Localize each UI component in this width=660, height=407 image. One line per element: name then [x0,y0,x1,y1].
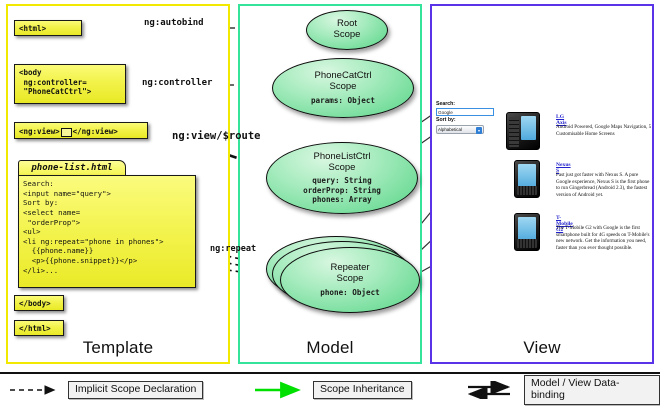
legend-item-databinding: Model / View Data-binding [464,380,660,400]
scope-root-line2: Scope [334,29,361,40]
dashed-arrow-icon [8,381,62,399]
search-label: Search: [436,101,498,108]
legend-item-inheritance: Scope Inheritance [253,380,412,400]
scope-phonelistctrl-title: PhoneListCtrl Scope [313,152,370,173]
scope-phonelistctrl-props: query: String orderProp: String phones: … [303,176,381,204]
green-arrow-icon [253,381,307,399]
scope-phonelistctrl: PhoneListCtrl Scope query: String orderP… [266,142,418,214]
label-ng-autobind: ng:autobind [144,18,204,28]
label-ng-controller: ng:controller [142,78,212,88]
legend: Implicit Scope Declaration Scope Inherit… [0,372,660,407]
scope-root: Root Scope [306,10,388,50]
search-input[interactable]: Google [436,108,494,116]
panel-model-label: Model [240,338,420,358]
scope-phonelistctrl-line1: PhoneListCtrl [313,151,370,162]
code-ngview-open: <ng:view> [19,127,60,136]
sort-select[interactable]: Alphabetical ▾ [436,125,484,134]
phone-thumbnail-icon [506,112,540,150]
legend-label-implicit: Implicit Scope Declaration [68,381,203,399]
scope-repeater-props: phone: Object [320,288,379,297]
scope-phonecatctrl-line2: Scope [330,81,357,92]
scope-repeater: Repeater Scope phone: Object [280,247,420,313]
scope-phonecatctrl-title: PhoneCatCtrl Scope [314,71,371,92]
sort-label: Sort by: [436,117,498,124]
code-body-close: </body> [14,295,64,311]
code-ngview: <ng:view></ng:view> [14,122,148,139]
code-html-open: <html> [14,20,82,36]
scope-root-line1: Root [337,18,357,29]
scope-phonecatctrl-line1: PhoneCatCtrl [314,70,371,81]
diagram-canvas: Template <html> <body ng:controller= "Ph… [0,0,660,405]
phone-thumbnail-icon [514,160,540,198]
scope-phonecatctrl: PhoneCatCtrl Scope params: Object [272,58,414,118]
scope-repeater-line1: Repeater [330,262,369,273]
snippet-filename-tab: phone-list.html [18,160,126,176]
ngview-slot-icon [61,128,72,137]
code-ngview-close: </ng:view> [73,127,118,136]
label-ng-view-route: ng:view/$route [172,130,261,142]
sort-select-value: Alphabetical [438,127,462,132]
scope-repeater-title: Repeater Scope [330,263,369,284]
view-search-form: Search: Google Sort by: Alphabetical ▾ [436,101,498,134]
double-arrow-icon [464,381,518,399]
phone-thumbnail-icon [514,213,540,251]
scope-phonecatctrl-props: params: Object [311,96,375,105]
template-snippet: phone-list.html Search: <input name="que… [18,160,196,288]
snippet-filename: phone-list.html [19,161,125,175]
panel-view-label: View [432,338,652,358]
label-ng-repeat: ng:repeat [210,244,256,254]
snippet-code: Search: <input name="query"> Sort by: <s… [18,175,196,288]
legend-label-inheritance: Scope Inheritance [313,381,412,399]
scope-repeater-line2: Scope [337,273,364,284]
legend-label-databinding: Model / View Data-binding [524,375,660,404]
phone-snippet: Android Powered, Google Maps Navigation,… [556,124,654,137]
legend-item-implicit: Implicit Scope Declaration [8,380,203,400]
chevron-down-icon: ▾ [476,127,482,134]
panel-template-label: Template [8,338,228,358]
phone-snippet: The T-Mobile G2 with Google is the first… [556,225,654,251]
phone-snippet: Fast just got faster with Nexus S. A pur… [556,172,654,198]
code-html-close: </html> [14,320,64,336]
scope-phonelistctrl-line2: Scope [329,162,356,173]
scope-root-title: Root Scope [334,19,361,40]
code-body-open: <body ng:controller= "PhoneCatCtrl"> [14,64,126,104]
